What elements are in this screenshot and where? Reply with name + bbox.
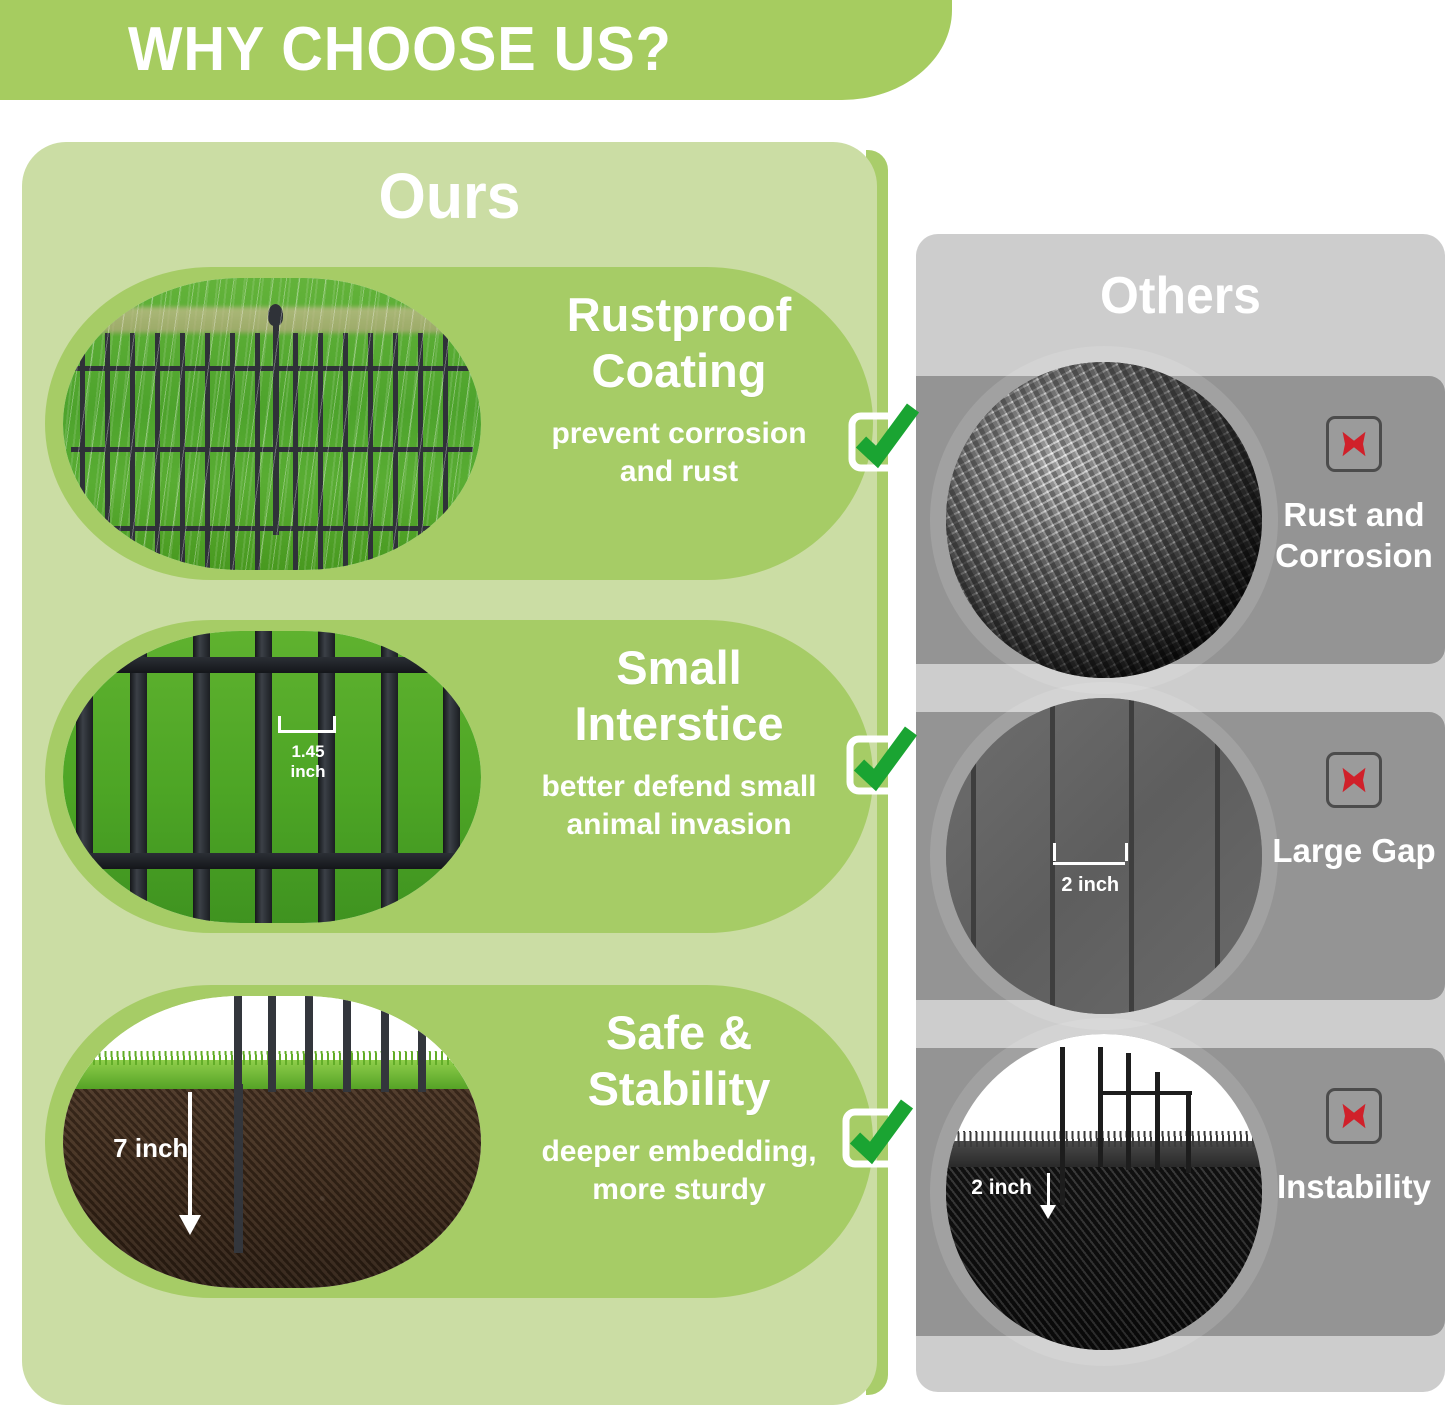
ours-feature-subtext: deeper embedding, more sturdy xyxy=(485,1133,873,1209)
subtext-line: prevent corrosion xyxy=(485,415,873,453)
subtext-line: deeper embedding, xyxy=(485,1133,873,1171)
ours-feature-text: Small Interstice better defend small ani… xyxy=(485,640,873,844)
others-feature-label: Instability xyxy=(1266,1166,1442,1207)
ours-feature-row: Rustproof Coating prevent corrosion and … xyxy=(45,267,873,580)
label-line: Rust and xyxy=(1266,494,1442,535)
subtext-line: animal invasion xyxy=(485,806,873,844)
gap-measure-label: 2 inch xyxy=(1050,875,1130,895)
header-banner: WHY CHOOSE US? xyxy=(0,0,952,100)
x-icon xyxy=(1326,416,1382,472)
embedding-depth-label: 7 inch xyxy=(113,1133,188,1164)
shallow-stake-soil-photo: 2 inch xyxy=(946,1034,1262,1350)
ours-feature-row: 1.45 inch Small Interstice better defend… xyxy=(45,620,873,933)
headline-line: Interstice xyxy=(485,696,873,752)
others-feature-text: Rust and Corrosion xyxy=(1266,416,1442,576)
others-feature-row: Rust and Corrosion xyxy=(916,376,1445,664)
subtext-line: more sturdy xyxy=(485,1171,873,1209)
headline-line: Safe & xyxy=(485,1005,873,1061)
others-feature-row: 2 inch Instability xyxy=(916,1048,1445,1336)
ours-feature-row: 7 inch Safe & Stability deeper embedding… xyxy=(45,985,873,1298)
others-feature-label: Large Gap xyxy=(1266,830,1442,871)
shallow-depth-label: 2 inch xyxy=(971,1176,1032,1200)
ours-column-title: Ours xyxy=(43,160,855,232)
fence-gap-closeup-photo: 1.45 inch xyxy=(63,631,481,923)
label-line: Instability xyxy=(1266,1166,1442,1207)
subtext-line: better defend small xyxy=(485,768,873,806)
fence-stake-in-soil-photo: 7 inch xyxy=(63,996,481,1288)
x-icon xyxy=(1326,752,1382,808)
ours-feature-headline: Rustproof Coating xyxy=(485,287,873,399)
x-icon xyxy=(1326,1088,1382,1144)
interstice-measure-label: 1.45 inch xyxy=(272,742,344,782)
ours-panel: Ours xyxy=(22,142,877,1405)
others-feature-text: Instability xyxy=(1266,1088,1442,1207)
ours-feature-subtext: prevent corrosion and rust xyxy=(485,415,873,491)
ours-feature-headline: Safe & Stability xyxy=(485,1005,873,1117)
wide-gap-mesh-photo: 2 inch xyxy=(946,698,1262,1014)
label-line: Corrosion xyxy=(1266,535,1442,576)
ours-feature-text: Safe & Stability deeper embedding, more … xyxy=(485,1005,873,1209)
check-icon xyxy=(847,402,919,474)
headline-line: Stability xyxy=(485,1061,873,1117)
rusty-wire-roll-photo xyxy=(946,362,1262,678)
check-icon xyxy=(845,725,917,797)
headline-line: Small xyxy=(485,640,873,696)
rain-on-coated-fence-photo xyxy=(63,278,481,570)
others-feature-text: Large Gap xyxy=(1266,752,1442,871)
others-column-title: Others xyxy=(927,266,1435,326)
subtext-line: and rust xyxy=(485,453,873,491)
ours-feature-text: Rustproof Coating prevent corrosion and … xyxy=(485,287,873,491)
ours-feature-headline: Small Interstice xyxy=(485,640,873,752)
others-feature-row: 2 inch Large Gap xyxy=(916,712,1445,1000)
ours-feature-subtext: better defend small animal invasion xyxy=(485,768,873,844)
headline-line: Rustproof xyxy=(485,287,873,343)
check-icon xyxy=(841,1098,913,1170)
others-feature-label: Rust and Corrosion xyxy=(1266,494,1442,576)
page-title: WHY CHOOSE US? xyxy=(128,14,672,86)
headline-line: Coating xyxy=(485,343,873,399)
label-line: Large Gap xyxy=(1266,830,1442,871)
others-panel: Others Rust and Corrosion xyxy=(916,234,1445,1392)
